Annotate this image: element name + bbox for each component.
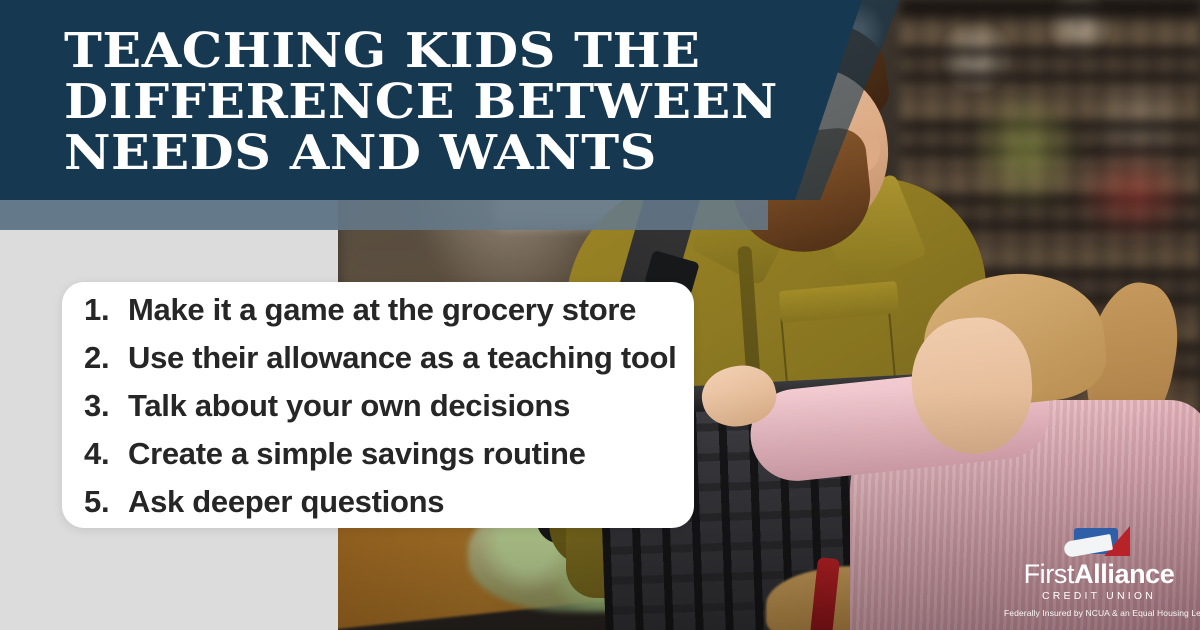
- brand-name-alliance: Alliance: [1074, 559, 1174, 589]
- accent-band-overlay: [338, 200, 768, 230]
- tips-list-card: 1. Make it a game at the grocery store 2…: [62, 282, 694, 528]
- page-title: TEACHING KIDS THE DIFFERENCE BETWEEN NEE…: [64, 26, 848, 179]
- list-item: 2. Use their allowance as a teaching too…: [62, 340, 694, 388]
- brand-subtitle: CREDIT UNION: [1004, 590, 1194, 602]
- brand-logo: FirstAlliance CREDIT UNION Federally Ins…: [1004, 524, 1194, 616]
- list-item-label: Make it a game at the grocery store: [128, 292, 636, 328]
- list-item: 4. Create a simple savings routine: [62, 436, 694, 484]
- list-item: 5. Ask deeper questions: [62, 484, 694, 532]
- shelf-product-red: [1074, 150, 1194, 240]
- legal-disclosure: Federally Insured by NCUA & an Equal Hou…: [1004, 608, 1194, 618]
- header-banner: TEACHING KIDS THE DIFFERENCE BETWEEN NEE…: [0, 0, 862, 200]
- list-item: 1. Make it a game at the grocery store: [62, 292, 694, 340]
- list-item-number: 3.: [84, 388, 128, 424]
- list-item: 3. Talk about your own decisions: [62, 388, 694, 436]
- accent-band: [0, 200, 338, 230]
- promo-graphic-canvas: TEACHING KIDS THE DIFFERENCE BETWEEN NEE…: [0, 0, 1200, 630]
- list-item-number: 4.: [84, 436, 128, 472]
- list-item-number: 5.: [84, 484, 128, 520]
- brand-name: FirstAlliance: [1004, 560, 1194, 589]
- list-item-label: Talk about your own decisions: [128, 388, 570, 424]
- list-item-label: Use their allowance as a teaching tool: [128, 340, 677, 376]
- list-item-number: 2.: [84, 340, 128, 376]
- tips-list: 1. Make it a game at the grocery store 2…: [62, 292, 694, 532]
- brand-name-first: First: [1024, 559, 1074, 589]
- list-item-label: Ask deeper questions: [128, 484, 444, 520]
- list-item-number: 1.: [84, 292, 128, 328]
- list-item-label: Create a simple savings routine: [128, 436, 586, 472]
- first-alliance-swoosh-icon: [1064, 524, 1134, 558]
